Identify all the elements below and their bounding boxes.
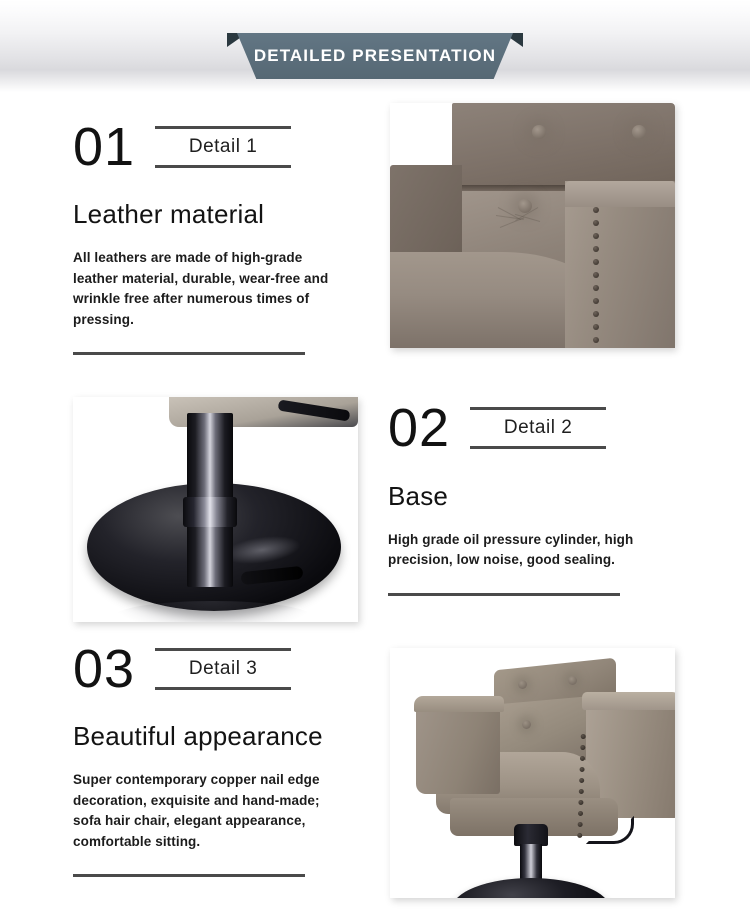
section-03-divider <box>73 874 305 877</box>
section-01-text: 01 Detail 1 Leather material All leather… <box>0 100 375 355</box>
section-01: 01 Detail 1 Leather material All leather… <box>0 100 750 355</box>
section-01-divider <box>73 352 305 355</box>
section-02-photo-column <box>0 397 375 595</box>
section-03-heading: Beautiful appearance <box>73 721 375 752</box>
chair-right-arm-top-shape <box>582 692 675 710</box>
header-ribbon: DETAILED PRESENTATION <box>0 0 750 100</box>
section-03-photo-column <box>375 644 750 877</box>
section-02-detail-tag: Detail 2 <box>470 407 606 449</box>
cylinder-collar-shape <box>183 497 237 527</box>
section-02-number-row: 02 Detail 2 <box>388 403 750 454</box>
tufted-button-icon <box>522 720 531 729</box>
chair-backrest-shape <box>452 103 675 191</box>
section-01-body: All leathers are made of high-grade leat… <box>73 248 343 330</box>
base-disc-shape <box>452 878 610 898</box>
section-03-detail-label: Detail 3 <box>189 658 257 680</box>
section-02-detail-label: Detail 2 <box>504 417 572 439</box>
section-02: 02 Detail 2 Base High grade oil pressure… <box>0 397 750 595</box>
copper-nail-trim <box>592 207 601 342</box>
tufted-button-icon <box>632 125 646 139</box>
page-title: DETAILED PRESENTATION <box>237 33 513 79</box>
section-01-detail-label: Detail 1 <box>189 136 257 158</box>
section-02-divider <box>388 593 620 596</box>
page-header: DETAILED PRESENTATION <box>0 0 750 100</box>
leather-closeup-photo-inner <box>390 103 675 348</box>
leather-closeup-photo[interactable] <box>390 103 675 348</box>
section-03-number: 03 <box>73 644 135 695</box>
section-01-number: 01 <box>73 122 135 173</box>
chair-left-arm-shape <box>416 698 500 794</box>
section-01-heading: Leather material <box>73 199 375 230</box>
full-chair-photo[interactable] <box>390 648 675 898</box>
tufted-button-icon <box>518 680 527 689</box>
chair-right-arm-top-shape <box>565 181 675 207</box>
section-03: 03 Detail 3 Beautiful appearance Super c… <box>0 644 750 877</box>
tufted-button-icon <box>532 125 546 139</box>
base-photo-inner <box>73 397 358 622</box>
section-03-text: 03 Detail 3 Beautiful appearance Super c… <box>0 644 375 877</box>
section-01-number-row: 01 Detail 1 <box>73 122 375 173</box>
full-chair-photo-inner <box>390 648 675 898</box>
foot-ring-icon <box>586 816 634 844</box>
section-03-body: Super contemporary copper nail edge deco… <box>73 770 343 852</box>
section-03-number-row: 03 Detail 3 <box>73 644 375 695</box>
section-03-detail-tag: Detail 3 <box>155 648 291 690</box>
section-02-number: 02 <box>388 403 450 454</box>
base-photo[interactable] <box>73 397 358 622</box>
section-02-heading: Base <box>388 481 750 512</box>
floor-reflection <box>113 601 313 622</box>
section-01-photo-column <box>375 100 750 355</box>
section-01-detail-tag: Detail 1 <box>155 126 291 168</box>
chair-left-arm-top-shape <box>414 696 504 712</box>
section-02-body: High grade oil pressure cylinder, high p… <box>388 530 660 571</box>
section-02-text: 02 Detail 2 Base High grade oil pressure… <box>375 397 750 595</box>
tufted-button-icon <box>568 676 577 685</box>
cylinder-top-shape <box>514 824 548 846</box>
